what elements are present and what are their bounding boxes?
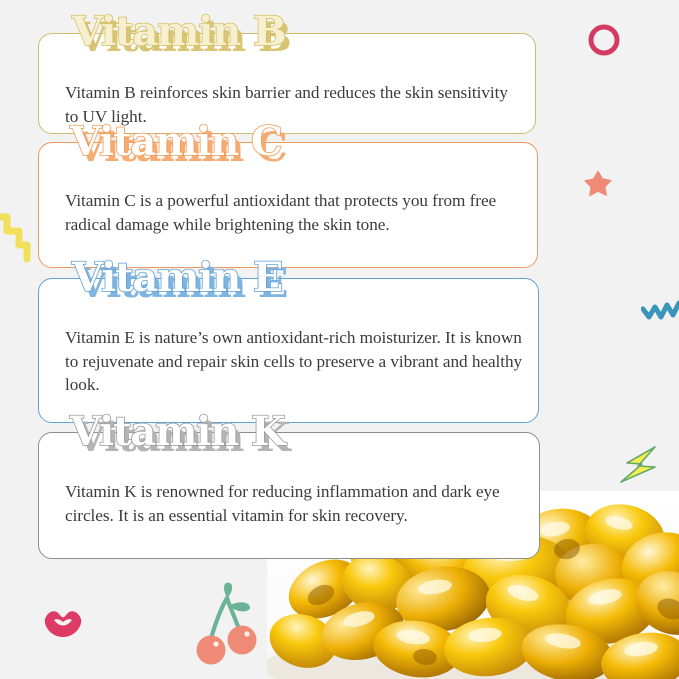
yellow-squiggle-icon <box>0 205 34 272</box>
ring-icon <box>586 22 622 63</box>
lips-icon <box>41 605 85 648</box>
vitamin-e-card: Vitamin E is nature’s own antioxidant-ri… <box>38 278 539 423</box>
vitamin-b-body: Vitamin B reinforces skin barrier and re… <box>65 81 521 128</box>
cherries-icon <box>191 580 263 671</box>
vitamin-c-card: Vitamin C is a powerful antioxidant that… <box>38 142 538 268</box>
vitamin-c-body: Vitamin C is a powerful antioxidant that… <box>65 189 523 236</box>
blue-wave-icon <box>641 295 679 330</box>
lightning-bolt-icon <box>611 442 667 495</box>
vitamin-k-card: Vitamin K is renowned for reducing infla… <box>38 432 540 559</box>
vitamin-k-body: Vitamin K is renowned for reducing infla… <box>65 480 525 527</box>
poster-canvas: Vitamin B reinforces skin barrier and re… <box>0 0 679 679</box>
vitamin-e-body: Vitamin E is nature’s own antioxidant-ri… <box>65 326 524 397</box>
vitamin-b-card: Vitamin B reinforces skin barrier and re… <box>38 33 536 134</box>
star-icon <box>583 168 613 203</box>
